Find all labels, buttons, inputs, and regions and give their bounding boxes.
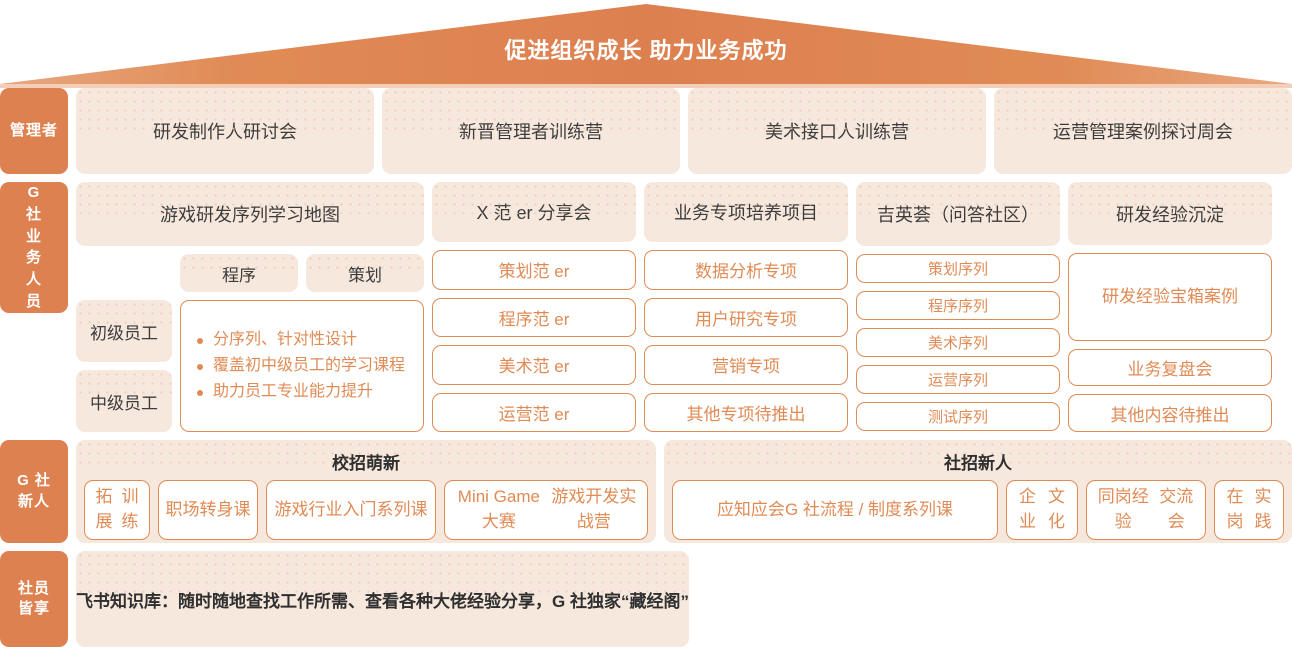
footer-body: 飞书知识库：随时随地查找工作所需、查看各种大佬经验分享，G 社独家“藏经阁” <box>76 551 1292 647</box>
learning-map-body: 初级员工 中级员工 程序 策划 分序列、针对性设计 覆盖初中 <box>76 254 424 432</box>
bullet-item: 覆盖初中级员工的学习课程 <box>211 353 409 379</box>
column-item[interactable]: 美术序列 <box>856 328 1060 357</box>
column-title[interactable]: 业务专项培养项目 <box>644 182 848 242</box>
sequence-column: 程序 策划 分序列、针对性设计 覆盖初中级员工的学习课程 助力员工专业能力提升 <box>180 254 424 432</box>
column-item[interactable]: 程序范 er <box>432 298 636 338</box>
rows-container: 管理者 研发制作人研讨会 新晋管理者训练营 美术接口人训练营 运营管理案例探讨周… <box>0 88 1292 655</box>
column-rnd-experience: 研发经验沉淀 研发经验宝箱案例 业务复盘会 其他内容待推出 <box>1068 182 1272 432</box>
row-tag-business-staff-label: G社业务人员 <box>26 182 42 313</box>
column-qa-community: 吉英荟（问答社区） 策划序列 程序序列 美术序列 运营序列 测试序列 <box>856 182 1060 432</box>
column-item[interactable]: 运营范 er <box>432 393 636 433</box>
column-item[interactable]: 程序序列 <box>856 291 1060 320</box>
row-tag-newcomers: G 社新人 <box>0 440 68 543</box>
bullet-list: 分序列、针对性设计 覆盖初中级员工的学习课程 助力员工专业能力提升 <box>195 327 409 405</box>
column-item[interactable]: 数据分析专项 <box>644 250 848 290</box>
knowledge-base-text: 飞书知识库：随时随地查找工作所需、查看各种大佬经验分享，G 社独家“藏经阁” <box>76 587 689 612</box>
group-item[interactable]: 职场转身课 <box>158 480 258 540</box>
column-item[interactable]: 其他内容待推出 <box>1068 394 1272 432</box>
bullet-item: 分序列、针对性设计 <box>211 327 409 353</box>
row-managers: 管理者 研发制作人研讨会 新晋管理者训练营 美术接口人训练营 运营管理案例探讨周… <box>0 88 1292 174</box>
bullet-item: 助力员工专业能力提升 <box>211 379 409 405</box>
newcomer-groups: 校招萌新 拓展训练 职场转身课 游戏行业入门系列课 Mini Game 大赛游戏… <box>76 440 1292 543</box>
row-tag-managers: 管理者 <box>0 88 68 174</box>
sequence-tab-design[interactable]: 策划 <box>306 254 424 292</box>
level-junior[interactable]: 初级员工 <box>76 300 172 362</box>
level-column: 初级员工 中级员工 <box>76 254 172 432</box>
column-item[interactable]: 美术范 er <box>432 345 636 385</box>
column-item[interactable]: 测试序列 <box>856 402 1060 431</box>
row-business-staff: G社业务人员 游戏研发序列学习地图 初级员工 中级员工 程序 策 <box>0 182 1292 432</box>
row-tag-newcomers-label: G 社新人 <box>17 471 51 512</box>
learning-map-bullets: 分序列、针对性设计 覆盖初中级员工的学习课程 助力员工专业能力提升 <box>180 300 424 432</box>
roof-title: 促进组织成长 助力业务成功 <box>0 40 1292 62</box>
column-title[interactable]: X 范 er 分享会 <box>432 182 636 242</box>
sequence-tabs: 程序 策划 <box>180 254 424 292</box>
group-campus-recruits: 校招萌新 拓展训练 职场转身课 游戏行业入门系列课 Mini Game 大赛游戏… <box>76 440 656 543</box>
level-intermediate[interactable]: 中级员工 <box>76 370 172 432</box>
manager-card[interactable]: 新晋管理者训练营 <box>382 88 680 174</box>
column-title[interactable]: 研发经验沉淀 <box>1068 182 1272 245</box>
group-item[interactable]: 企业文化 <box>1006 480 1078 540</box>
row-all-members: 社员皆享 飞书知识库：随时随地查找工作所需、查看各种大佬经验分享，G 社独家“藏… <box>0 551 1292 647</box>
sequence-tab-program[interactable]: 程序 <box>180 254 298 292</box>
column-item[interactable]: 运营序列 <box>856 365 1060 394</box>
group-item[interactable]: 在岗实践 <box>1214 480 1284 540</box>
column-item[interactable]: 营销专项 <box>644 345 848 385</box>
group-item[interactable]: 应知应会G 社流程 / 制度系列课 <box>672 480 998 540</box>
group-item[interactable]: 拓展训练 <box>84 480 150 540</box>
column-x-fan-er: X 范 er 分享会 策划范 er 程序范 er 美术范 er 运营范 er <box>432 182 636 432</box>
learning-map-column: 游戏研发序列学习地图 初级员工 中级员工 程序 策划 <box>76 182 424 432</box>
roof-banner: 促进组织成长 助力业务成功 <box>0 0 1292 88</box>
column-item[interactable]: 研发经验宝箱案例 <box>1068 253 1272 340</box>
group-item[interactable]: 同岗经验交流会 <box>1086 480 1206 540</box>
learning-map-title[interactable]: 游戏研发序列学习地图 <box>76 182 424 246</box>
row-tag-all-members-label: 社员皆享 <box>18 579 50 620</box>
column-item[interactable]: 用户研究专项 <box>644 298 848 338</box>
group-item[interactable]: Mini Game 大赛游戏开发实战营 <box>444 480 648 540</box>
group-title: 社招新人 <box>672 446 1284 480</box>
column-title[interactable]: 吉英荟（问答社区） <box>856 182 1060 246</box>
group-items: 应知应会G 社流程 / 制度系列课 企业文化 同岗经验交流会 在岗实践 <box>672 480 1284 540</box>
managers-cards: 研发制作人研讨会 新晋管理者训练营 美术接口人训练营 运营管理案例探讨周会 <box>76 88 1292 174</box>
column-item[interactable]: 策划序列 <box>856 254 1060 283</box>
column-special-programs: 业务专项培养项目 数据分析专项 用户研究专项 营销专项 其他专项待推出 <box>644 182 848 432</box>
group-title: 校招萌新 <box>84 446 648 480</box>
manager-card[interactable]: 运营管理案例探讨周会 <box>994 88 1292 174</box>
row-tag-business-staff: G社业务人员 <box>0 182 68 313</box>
group-social-recruits: 社招新人 应知应会G 社流程 / 制度系列课 企业文化 同岗经验交流会 在岗实践 <box>664 440 1292 543</box>
group-items: 拓展训练 职场转身课 游戏行业入门系列课 Mini Game 大赛游戏开发实战营 <box>84 480 648 540</box>
infographic-root: 促进组织成长 助力业务成功 管理者 研发制作人研讨会 新晋管理者训练营 美术接口… <box>0 0 1292 666</box>
manager-card[interactable]: 研发制作人研讨会 <box>76 88 374 174</box>
row-newcomers: G 社新人 校招萌新 拓展训练 职场转身课 游戏行业入门系列课 Mini Gam… <box>0 440 1292 543</box>
column-item[interactable]: 其他专项待推出 <box>644 393 848 433</box>
business-columns: 游戏研发序列学习地图 初级员工 中级员工 程序 策划 <box>76 182 1292 432</box>
group-item[interactable]: 游戏行业入门系列课 <box>266 480 436 540</box>
column-item[interactable]: 业务复盘会 <box>1068 349 1272 387</box>
row-tag-all-members: 社员皆享 <box>0 551 68 647</box>
manager-card[interactable]: 美术接口人训练营 <box>688 88 986 174</box>
knowledge-base-banner[interactable]: 飞书知识库：随时随地查找工作所需、查看各种大佬经验分享，G 社独家“藏经阁” <box>76 551 689 647</box>
column-item[interactable]: 策划范 er <box>432 250 636 290</box>
